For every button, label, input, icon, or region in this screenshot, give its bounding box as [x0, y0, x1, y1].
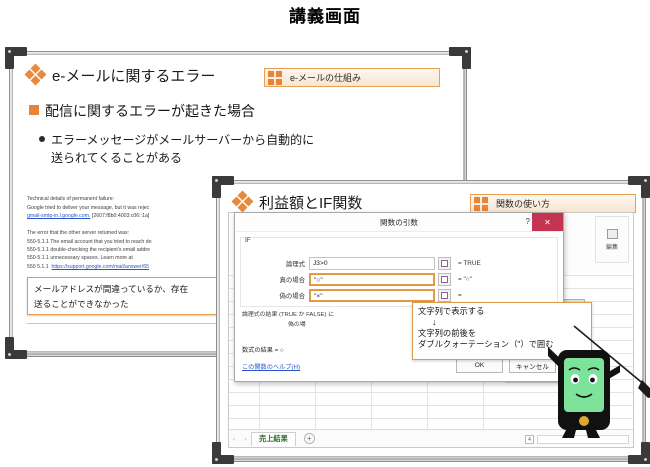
- diamond-icon: [25, 64, 47, 86]
- bullet-line-1: エラーメッセージがメールサーバーから自動的に: [51, 133, 314, 147]
- ribbon-edit-button[interactable]: 編集: [595, 216, 629, 263]
- err-line-5: The error that the other server returned…: [27, 230, 129, 236]
- arg-result-logical: = TRUE: [458, 260, 481, 267]
- callout-line-1: 文字列で表示する: [418, 306, 586, 318]
- err-line-6: 550-5.1.1 The email account that you tri…: [27, 239, 151, 245]
- slide-1-callout-line-1: メールアドレスが間違っているか、存在: [34, 284, 188, 294]
- corner-2-bracket-top-right: [628, 176, 650, 198]
- dialog-titlebar: 関数の引数 ? ✕: [235, 213, 563, 232]
- arg-result-true: = "○": [458, 276, 472, 283]
- corner-bracket-top-left: [5, 47, 27, 69]
- add-sheet-icon[interactable]: +: [304, 433, 315, 444]
- slide-1-bullet-text: エラーメッセージがメールサーバーから自動的に 送られてくることがある: [51, 131, 314, 167]
- ok-button[interactable]: OK: [456, 358, 503, 373]
- dialog-title: 関数の引数: [380, 217, 418, 228]
- function-help-link[interactable]: この関数のヘルプ(H): [242, 362, 300, 371]
- arg-input-logical[interactable]: J3>0: [309, 257, 435, 270]
- formula-result: 数式の結果 = ○: [242, 345, 284, 354]
- four-squares-icon-2: [473, 195, 490, 212]
- arg-label-logical: 論理式: [241, 259, 309, 268]
- err-line-1: Technical details of permanent failure:: [27, 196, 114, 202]
- edit-icon: [607, 229, 618, 239]
- close-icon[interactable]: ✕: [532, 213, 563, 231]
- dialog-buttons: OK キャンセル: [456, 358, 556, 373]
- smartphone-mascot: [548, 334, 620, 438]
- function-name-label: IF: [245, 237, 251, 244]
- slide-1-header: e-メールに関するエラー: [25, 64, 215, 86]
- slide-1-callout-line-2: 送ることができなかった: [34, 299, 129, 309]
- sheet-tab-sales[interactable]: 売上結果: [251, 432, 296, 446]
- round-bullet-icon: [39, 136, 45, 142]
- desc-line-1: 論理式の結果 (TRUE か FALSE) に: [242, 312, 334, 318]
- diamond-icon-2: [232, 191, 254, 213]
- arg-input-true[interactable]: "○": [309, 273, 435, 286]
- slide-2-title: 利益額とIF関数: [259, 192, 362, 213]
- sheet-nav-arrows-icon[interactable]: ‹ ›: [233, 437, 251, 443]
- callout-arrow-icon: ↓: [418, 318, 586, 328]
- range-picker-icon[interactable]: [438, 289, 451, 302]
- slide-1-heading-text: 配信に関するエラーが起きた場合: [45, 101, 255, 121]
- err-line-8: 550-5.1.1 unnecessary spaces. Learn more…: [27, 255, 133, 261]
- slide-2-header: 利益額とIF関数: [232, 191, 362, 213]
- slide-2-topic-badge: 関数の使い方: [470, 194, 636, 213]
- zoom-value-box[interactable]: 4: [525, 435, 534, 444]
- slide-1-title: e-メールに関するエラー: [52, 65, 215, 86]
- arg-result-false: =: [458, 292, 462, 299]
- ribbon-edit-label: 編集: [606, 242, 618, 251]
- formula-result-value: ○: [280, 347, 284, 354]
- arg-input-false[interactable]: "×": [309, 289, 435, 302]
- bullet-line-2: 送られてくることがある: [51, 151, 182, 165]
- arg-label-true: 真の場合: [241, 275, 309, 284]
- argument-row-logical: 論理式 J3>0 = TRUE: [241, 256, 557, 271]
- arg-label-false: 偽の場合: [241, 291, 309, 300]
- four-squares-icon: [267, 69, 284, 86]
- smtp-host-link[interactable]: gmail-smtp-in.l.google.com.: [27, 213, 90, 219]
- slide-1-heading: 配信に関するエラーが起きた場合: [29, 101, 255, 121]
- slide-1-topic-badge: e-メールの仕組み: [264, 68, 440, 87]
- desc-line-2: 偽の場: [288, 322, 306, 328]
- screenshot-root: 講義画面: [0, 0, 650, 467]
- err-line-3b: [2607:f8b0:4003:c06::1a]: [90, 213, 149, 219]
- support-article-link[interactable]: https://support.google.com/mail/answer/6…: [52, 264, 149, 270]
- slide-1-badge-label: e-メールの仕組み: [290, 71, 361, 84]
- slide-1-bullet: エラーメッセージがメールサーバーから自動的に 送られてくることがある: [39, 131, 314, 167]
- err-line-2: Google tried to deliver your message, bu…: [27, 205, 149, 211]
- page-title: 講義画面: [0, 2, 650, 27]
- corner-2-bracket-top-left: [212, 176, 234, 198]
- slide-2-badge-label: 関数の使い方: [496, 197, 550, 210]
- argument-row-true: 真の場合 "○" = "○": [241, 272, 557, 287]
- if-function-group: IF 論理式 J3>0 = TRUE 真の場合 "○" = "○": [240, 237, 558, 307]
- help-icon[interactable]: ?: [526, 217, 530, 226]
- corner-2-bracket-bottom-left: [212, 442, 234, 464]
- corner-2-bracket-bottom-right: [628, 442, 650, 464]
- orange-square-bullet-icon: [29, 105, 39, 115]
- range-picker-icon[interactable]: [438, 257, 451, 270]
- formula-result-label: 数式の結果 =: [242, 347, 278, 354]
- corner-bracket-top-right: [449, 47, 471, 69]
- callout-tail: [88, 277, 102, 284]
- err-line-9a: 550 5.1.1: [27, 264, 52, 270]
- corner-bracket-bottom-left: [5, 337, 27, 359]
- range-picker-icon[interactable]: [438, 273, 451, 286]
- err-line-7: 550-5.1.1 double-checking the recipient'…: [27, 247, 150, 253]
- argument-row-false: 偽の場合 "×" =: [241, 288, 557, 303]
